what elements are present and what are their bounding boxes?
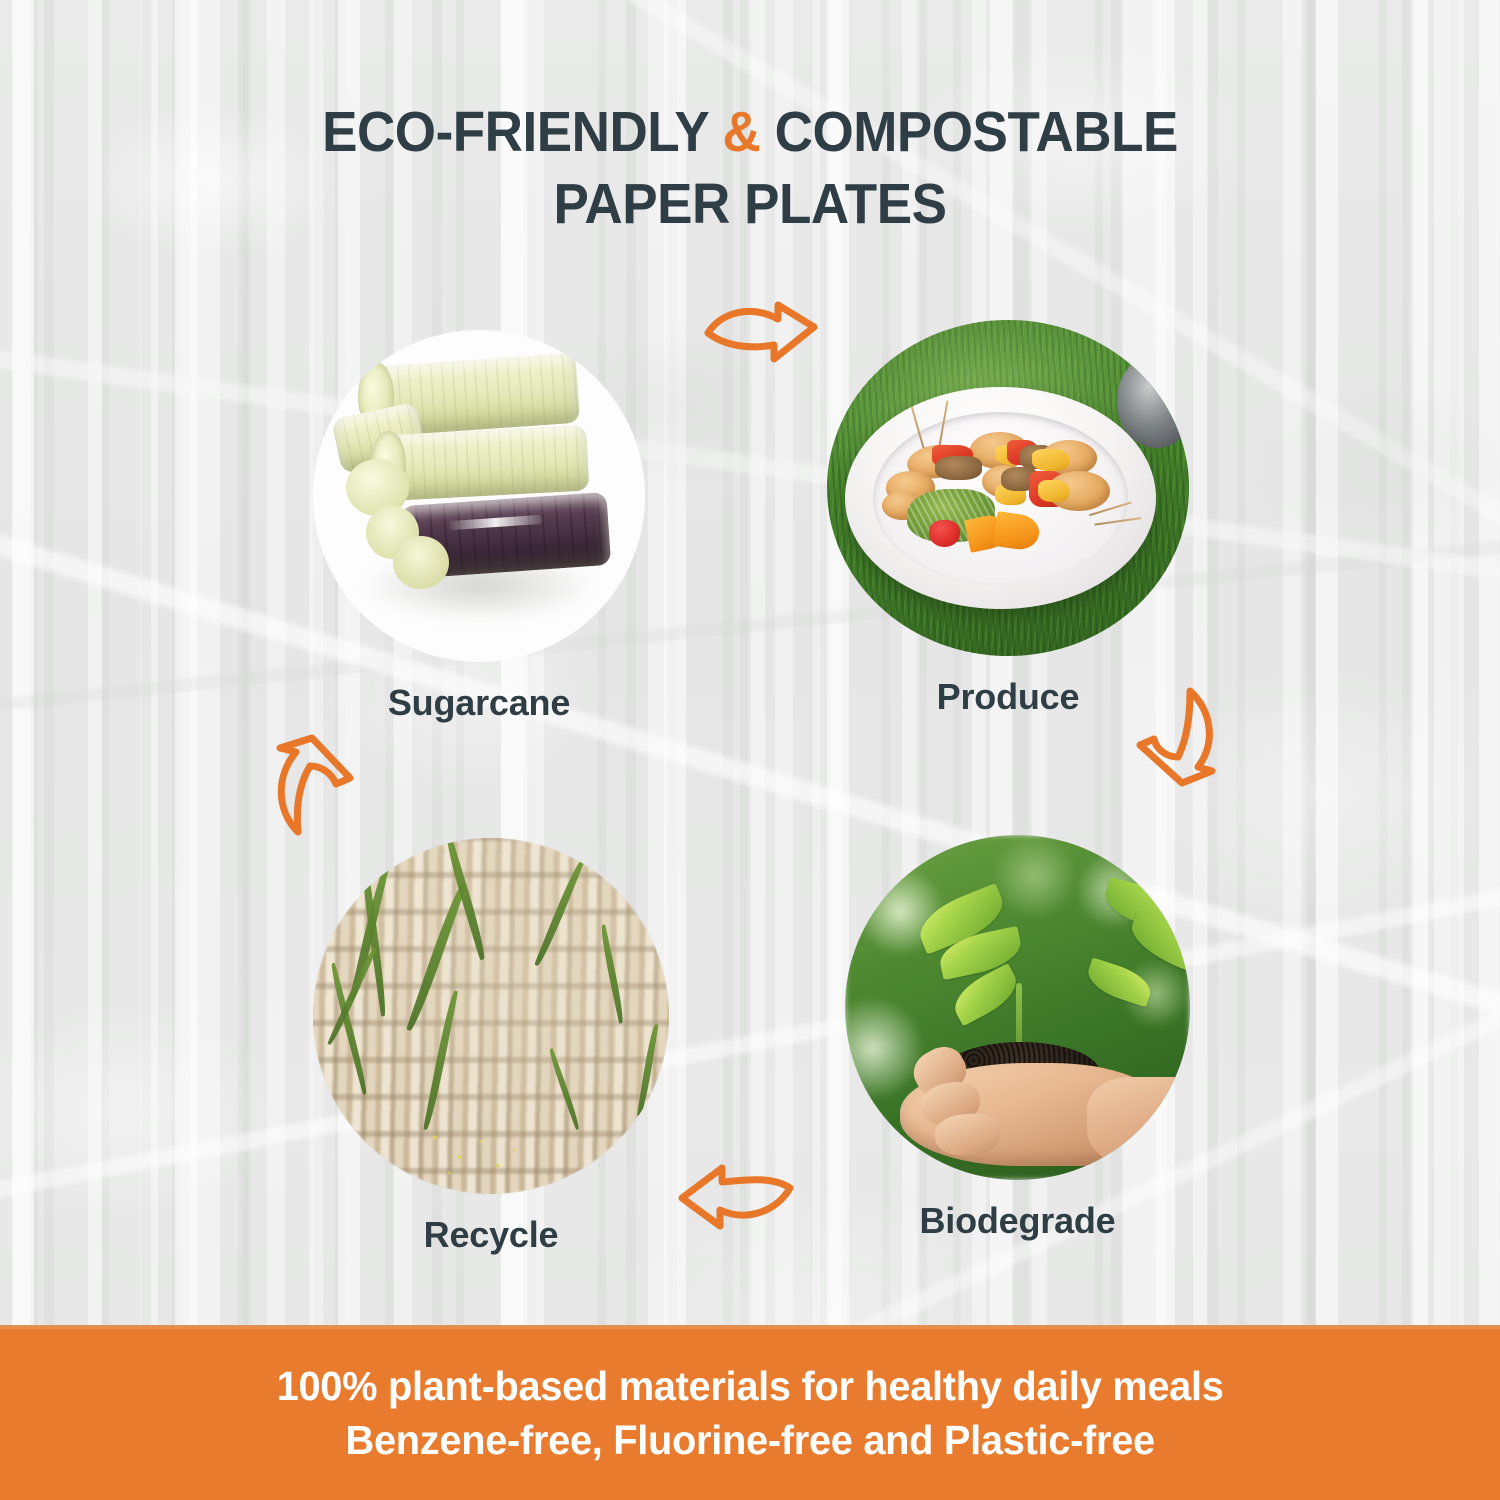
- node-label-biodegrade: Biodegrade: [845, 1200, 1190, 1242]
- sugarcane-chunk: [393, 536, 449, 589]
- curved-arrow-up-right-icon: [272, 734, 358, 838]
- hands-holding-seedling-photo: [845, 835, 1190, 1180]
- cycle-node-biodegrade: Biodegrade: [845, 835, 1190, 1242]
- eco-friendly-paper-plates-infographic: ECO-FRIENDLY & COMPOSTABLE PAPER PLATES …: [0, 0, 1500, 1500]
- node-label-sugarcane: Sugarcane: [313, 682, 645, 724]
- node-label-recycle: Recycle: [313, 1214, 669, 1256]
- sugarcane-stalks-photo: [313, 330, 645, 662]
- banner-line-1: 100% plant-based materials for healthy d…: [277, 1359, 1224, 1413]
- yellow-wildflowers: [413, 1116, 534, 1187]
- title-ampersand: &: [723, 100, 761, 164]
- meat-piece: [935, 456, 982, 480]
- cheese-slice: [1038, 480, 1069, 502]
- title-line-1: ECO-FRIENDLY & COMPOSTABLE: [53, 96, 1448, 168]
- curved-arrow-down-left-icon: [1130, 685, 1222, 789]
- title-line-2: PAPER PLATES: [53, 168, 1448, 240]
- sugarcane-field-photo: [313, 838, 669, 1194]
- cycle-node-sugarcane: Sugarcane: [313, 330, 645, 724]
- plate-of-food-on-grass-photo: [827, 320, 1189, 656]
- wrist: [1087, 1077, 1191, 1167]
- curved-arrow-right-down-icon: [704, 297, 820, 375]
- page-title: ECO-FRIENDLY & COMPOSTABLE PAPER PLATES: [0, 96, 1500, 240]
- strawberry: [929, 520, 960, 547]
- title-line-1-part-2: COMPOSTABLE: [760, 100, 1178, 164]
- banner-line-2: Benzene-free, Fluorine-free and Plastic-…: [345, 1413, 1154, 1467]
- cycle-node-produce: Produce: [827, 320, 1189, 718]
- bottom-claim-banner: 100% plant-based materials for healthy d…: [0, 1325, 1500, 1500]
- cheese-slice: [1032, 449, 1069, 471]
- sugarcane-stalk: [378, 424, 590, 501]
- cycle-node-recycle: Recycle: [313, 838, 669, 1256]
- paper-plate: [845, 387, 1156, 609]
- curved-arrow-left-icon: [676, 1158, 794, 1234]
- title-line-1-part-1: ECO-FRIENDLY: [322, 100, 722, 164]
